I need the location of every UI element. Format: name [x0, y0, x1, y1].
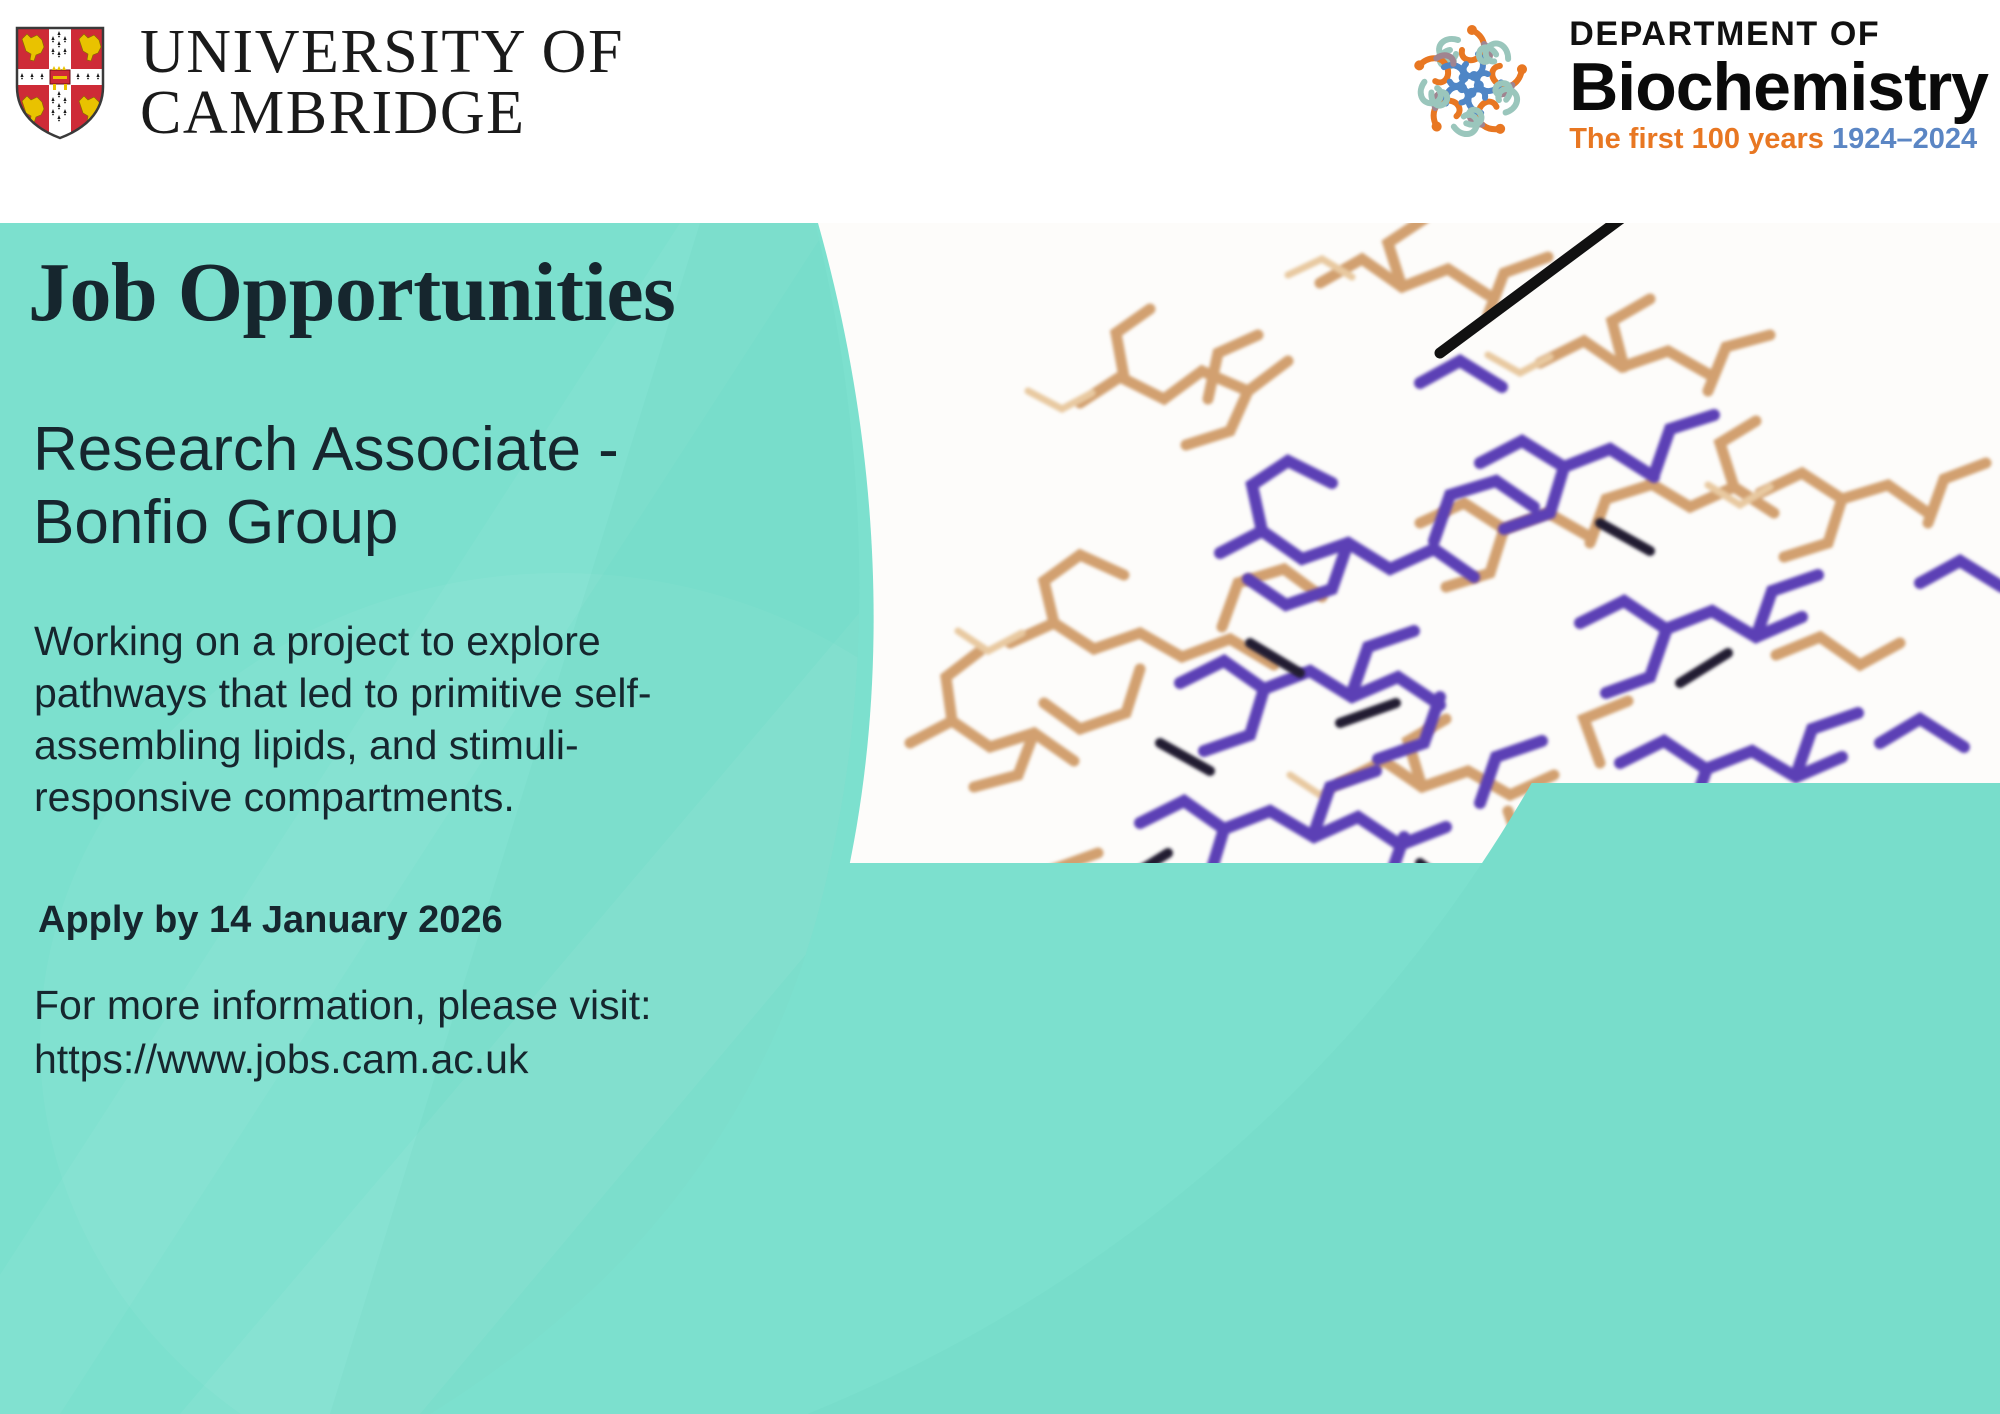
department-of-biochemistry-logo: DEPARTMENT OF Biochemistry The first 100… [1395, 14, 1988, 156]
cambridge-crest-icon [14, 25, 106, 141]
cambridge-wordmark: UNIVERSITY OF CAMBRIDGE [140, 22, 624, 144]
job-title: Research Associate - Bonfio Group [33, 413, 733, 559]
poster-content: Job Opportunities Research Associate - B… [0, 223, 830, 1414]
molecular-structure-photo [780, 223, 2000, 1414]
biochemistry-centenary-icon [1395, 14, 1545, 156]
more-info-label: For more information, please visit: [34, 982, 652, 1028]
centenary-tagline: The first 100 years 1924–2024 [1569, 125, 1988, 154]
department-name: Biochemistry [1569, 53, 1988, 121]
more-info-block: For more information, please visit: http… [34, 978, 754, 1086]
cambridge-line-2: CAMBRIDGE [140, 83, 624, 144]
biochemistry-wordmark: DEPARTMENT OF Biochemistry The first 100… [1569, 17, 1988, 154]
jobs-url-link[interactable]: https://www.jobs.cam.ac.uk [34, 1032, 754, 1086]
page-title: Job Opportunities [28, 244, 675, 341]
poster-canvas: UNIVERSITY OF CAMBRIDGE [0, 0, 2000, 1414]
job-description: Working on a project to explore pathways… [34, 615, 684, 823]
department-eyebrow: DEPARTMENT OF [1569, 17, 1988, 51]
apply-deadline: Apply by 14 January 2026 [38, 899, 503, 942]
centenary-tagline-text: The first 100 years [1569, 123, 1832, 155]
university-of-cambridge-logo: UNIVERSITY OF CAMBRIDGE [14, 22, 624, 144]
cambridge-line-1: UNIVERSITY OF [140, 22, 624, 83]
poster-header: UNIVERSITY OF CAMBRIDGE [0, 0, 2000, 223]
centenary-tagline-years: 1924–2024 [1832, 123, 1977, 155]
